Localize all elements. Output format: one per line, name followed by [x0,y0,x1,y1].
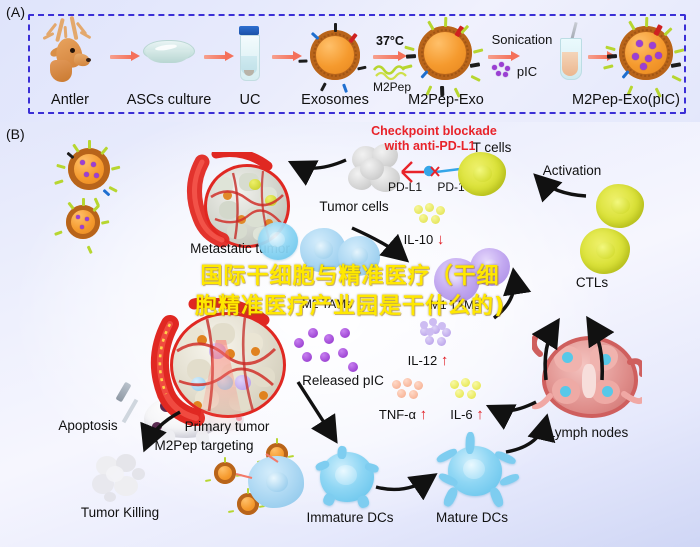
pd-l1-label: PD-L1 [388,180,422,194]
process-arrow-5 [488,52,520,61]
m2pep-targeting-label: M2Pep targeting [154,438,253,453]
panel-a: (A) Antler ASCs culture [0,0,700,122]
mature-dc-icon [448,446,502,496]
m2pep-exosome-icon [418,26,472,80]
cytokine-il6-name: IL-6 [450,407,472,422]
tnfa-dot-cluster [392,378,426,400]
m2pep-exosome-pic-icon [619,26,673,80]
lymph-nodes-label: Lymph nodes [548,425,629,440]
cytokine-tnfa: TNF-α ↑ [379,406,427,423]
lymph-nodes-icon [532,332,642,418]
immature-dcs-label: Immature DCs [306,510,393,525]
primary-tumor-label: Primary tumor [185,419,270,434]
free-exosome-1-icon [68,148,110,190]
m2-tam-cell-2-icon [338,236,380,276]
ultracentrifuge-tube-icon [239,26,261,84]
panel-a-label: (A) [6,4,25,20]
process-arrow-4 [373,52,407,61]
il10-dot-cluster [414,203,448,225]
cytokine-tnfa-name: TNF-α [379,407,416,422]
checkpoint-blockade-label-line2: with anti-PD-L1 [385,139,476,153]
cytokine-il6-arrow: ↑ [476,406,484,423]
targeted-macrophage-icon [248,456,304,508]
process-arrow-2 [204,52,234,61]
cytokine-il6: IL-6 ↑ [450,406,484,423]
temperature-annotation: 37°C [376,34,404,48]
m2-tams-label: M2 TAMs [302,297,352,311]
m2pep-annotation: M2Pep [373,80,411,94]
panel-b-label: (B) [6,126,25,142]
t-cells-label: T cells [473,140,512,155]
m1-tam-dot-cluster [420,318,448,336]
petri-dish-icon [143,32,195,68]
process-arrow-1 [110,52,140,61]
pic-annotation: pIC [517,64,537,79]
panel-a-caption-m2pep-exo: M2Pep-Exo [408,92,484,108]
cytokine-il12: IL-12 ↑ [408,352,449,369]
panel-a-caption-exosomes: Exosomes [301,92,369,108]
mature-dcs-label: Mature DCs [436,510,508,525]
sonication-annotation: Sonication [492,32,553,47]
immature-dc-icon [320,452,374,502]
panel-a-caption-m2pep-exo-pic: M2Pep-Exo(pIC) [572,92,680,108]
sonication-probe-icon [556,22,586,82]
antler-deer-icon [42,12,112,90]
ctls-label: CTLs [576,275,608,290]
figure-canvas: (A) Antler ASCs culture [0,0,700,547]
tumor-killing-label: Tumor Killing [81,505,159,520]
cytokine-il12-name: IL-12 [408,353,438,368]
cytokine-il12-arrow: ↑ [441,352,449,369]
dc-near-tumor-icon [258,222,298,260]
cytokine-tnfa-arrow: ↑ [420,406,428,423]
panel-a-caption-asc: ASCs culture [127,92,212,108]
cytokine-il10-arrow: ↓ [437,231,445,248]
tumor-cells-label: Tumor cells [319,199,388,214]
cytokine-il10: IL-10 ↓ [404,231,445,248]
apoptosis-label: Apoptosis [58,418,117,433]
released-pic-label: Released pIC [302,373,384,388]
cytokine-il10-name: IL-10 [404,232,434,247]
m1-tam-cell-2-icon [470,248,510,286]
il6-dot-cluster [450,378,484,400]
targeting-exosome-2-icon [214,462,236,484]
m1-tams-label: M1 TAMs [430,298,480,312]
panel-a-caption-antler: Antler [51,92,89,108]
free-exosome-2-icon [66,205,100,239]
primary-tumor-icon [150,298,300,426]
activation-label: Activation [543,163,602,178]
apoptotic-tumor-cell-icon [90,452,150,504]
panel-a-caption-uc: UC [240,92,261,108]
pic-dot-cluster [492,62,514,78]
checkpoint-blockade-label-line1: Checkpoint blockade [371,124,497,138]
released-pic-dot-cluster [294,328,358,374]
exosome-icon [310,30,360,80]
